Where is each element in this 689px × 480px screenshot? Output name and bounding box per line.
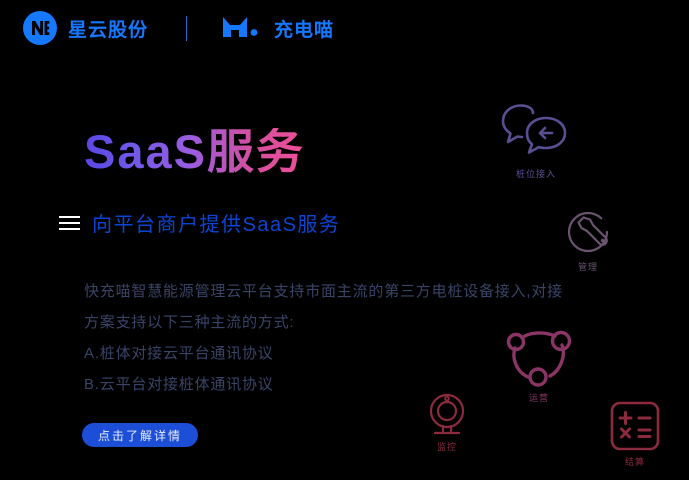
site-header: 星云股份 充电喵 bbox=[0, 0, 689, 56]
brand-primary[interactable]: 星云股份 bbox=[23, 11, 148, 45]
decor-icon-settle-label: 结算 bbox=[625, 455, 645, 468]
brand-primary-name: 星云股份 bbox=[68, 15, 148, 42]
decor-icon-monitor-label: 监控 bbox=[437, 440, 457, 453]
chat-bubbles-arrow-icon bbox=[500, 104, 572, 164]
hamburger-icon bbox=[59, 212, 80, 234]
network-nodes-icon bbox=[503, 324, 575, 388]
wrench-icon bbox=[563, 207, 613, 257]
learn-more-button[interactable]: 点击了解详情 bbox=[82, 423, 198, 447]
decor-icon-manage: 管理 bbox=[563, 207, 613, 273]
decor-icon-settle: 结算 bbox=[609, 400, 661, 468]
header-divider bbox=[186, 16, 187, 41]
ne-monogram-circle-icon bbox=[23, 11, 57, 45]
decor-icon-access: 桩位接入 bbox=[500, 104, 572, 180]
decor-icon-monitor: 监控 bbox=[424, 389, 470, 453]
brand-secondary-name: 充电喵 bbox=[274, 15, 334, 42]
brand-secondary[interactable]: 充电喵 bbox=[221, 15, 334, 42]
decor-icon-access-label: 桩位接入 bbox=[516, 167, 556, 180]
decor-icon-operate: 运营 bbox=[503, 324, 575, 404]
cat-head-mark-icon bbox=[221, 15, 265, 42]
page-subtitle: 向平台商户提供SaaS服务 bbox=[92, 208, 340, 237]
subtitle-row: 向平台商户提供SaaS服务 bbox=[59, 208, 340, 237]
page-root: 星云股份 充电喵 SaaS服务 向平台商户提供SaaS服务 快充喵智慧能源管理云… bbox=[0, 0, 689, 480]
decor-icon-manage-label: 管理 bbox=[578, 260, 598, 273]
calculator-icon bbox=[609, 400, 661, 452]
decor-icon-operate-label: 运营 bbox=[529, 391, 549, 404]
cctv-camera-icon bbox=[424, 389, 470, 437]
page-title: SaaS服务 bbox=[84, 128, 305, 175]
